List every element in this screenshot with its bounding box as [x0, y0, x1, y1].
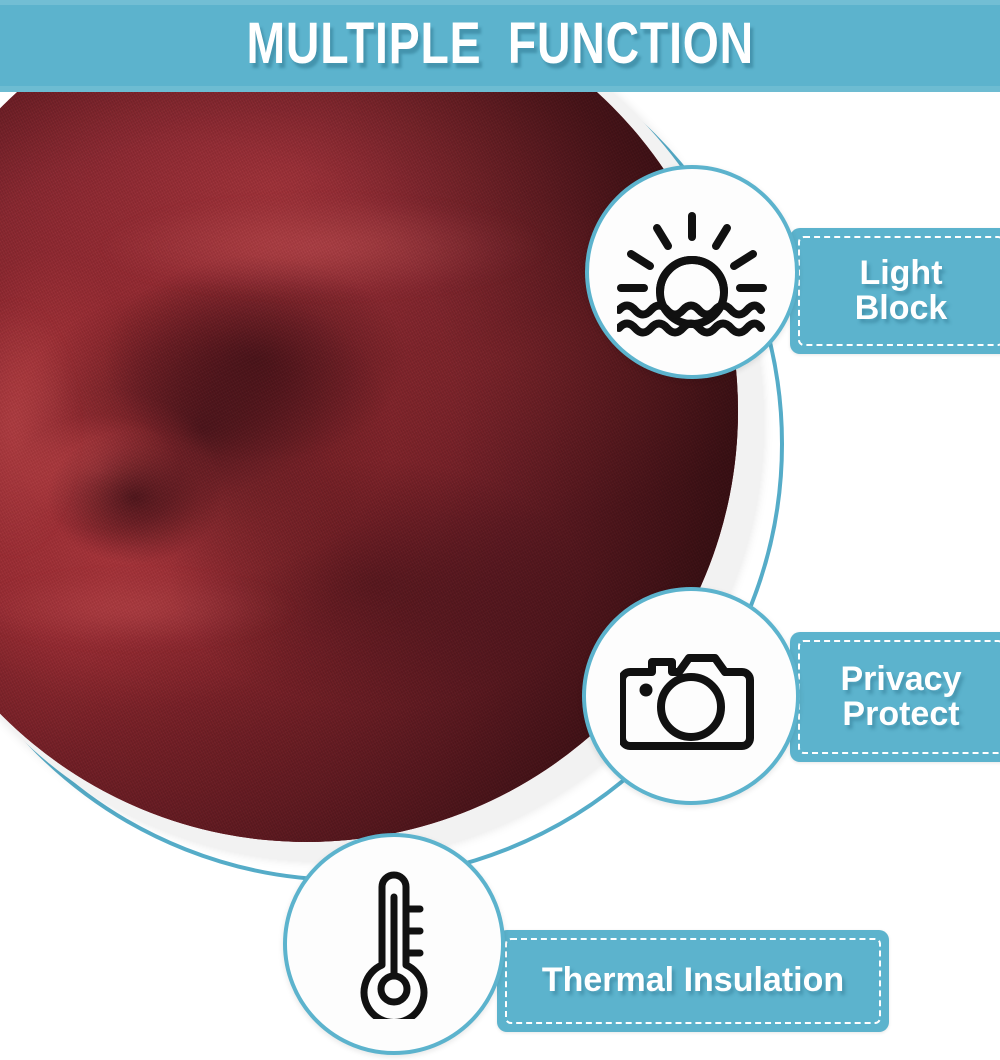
feature-label-thermal-insulation: Thermal Insulation [497, 930, 889, 1032]
feature-label-privacy-protect: Privacy Protect [790, 632, 1000, 762]
feature-label-light-block: Light Block [790, 228, 1000, 354]
feature-icon-circle-privacy-protect [582, 587, 800, 805]
product-feature-stage: Light Block [0, 92, 1000, 1060]
feature-icon-circle-thermal-insulation [283, 833, 505, 1055]
feature-icon-circle-light-block [585, 165, 799, 379]
page-title: MULTIPLE FUNCTION [246, 15, 754, 77]
feature-label-plate-thermal-insulation: Thermal Insulation [497, 930, 889, 1032]
feature-label-plate-light-block: Light Block [790, 228, 1000, 354]
feature-label-plate-privacy-protect: Privacy Protect [790, 632, 1000, 762]
thermometer-icon [346, 869, 442, 1019]
camera-icon [620, 638, 762, 754]
sunrise-over-water-icon [617, 206, 767, 338]
header-banner: MULTIPLE FUNCTION [0, 0, 1000, 92]
